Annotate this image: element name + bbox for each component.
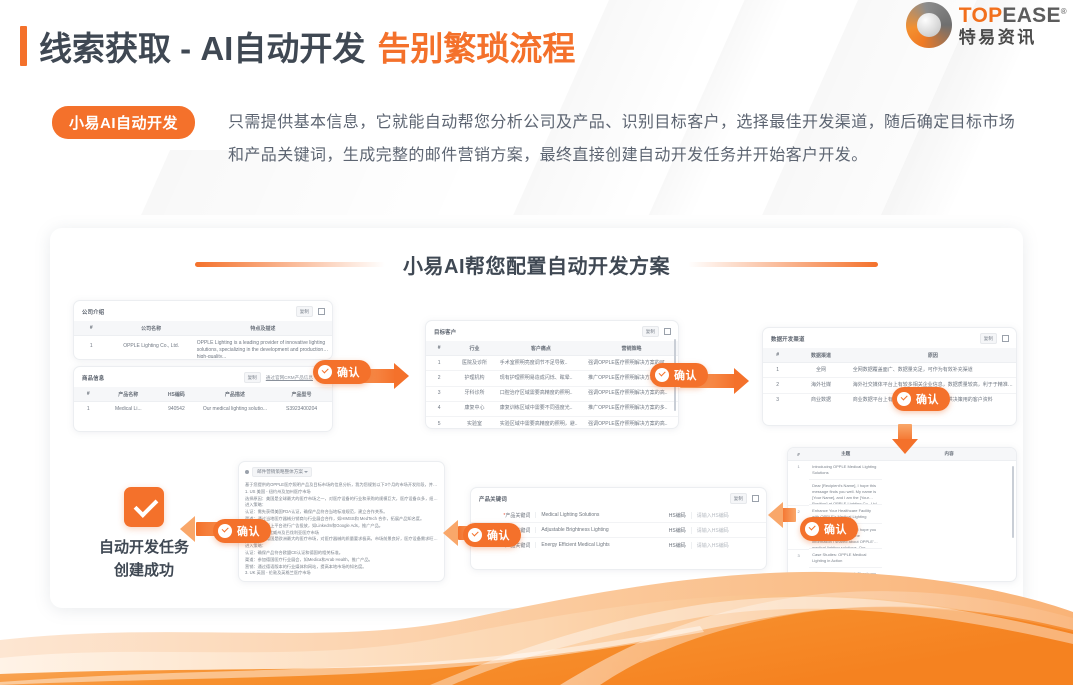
cell-pain-point: 口腔治疗区域需要高精度的照明..: [497, 386, 585, 401]
table-row: 2 护理机构 现有护理照明易造成闪烁、眩晕.. 推广OPPLE医疗照明解决方案的…: [426, 371, 678, 386]
col-product-name: 产品名称: [102, 387, 154, 402]
logo-registered-mark: ®: [1061, 7, 1067, 16]
card-email-campaign: # 主题 内容 1 Introducing OPPLE Medical Ligh…: [787, 447, 1017, 582]
plan-line: 认证：确保产品符合欧盟CE认证和德国的相关标准。: [245, 550, 438, 557]
add-from-crm-link[interactable]: 通过官网CRM产品信息: [266, 375, 313, 381]
confirm-button[interactable]: 确认: [463, 523, 521, 547]
plan-line: 1. US 美国 - 纽约州及加州医疗市场: [245, 489, 438, 496]
card-company-title: 公司介绍: [82, 308, 104, 316]
card-company-header: 公司介绍 复制: [74, 301, 332, 321]
col-industry: 行业: [452, 341, 497, 356]
cell-hs-code: 940542: [154, 402, 199, 417]
title-main-text: 线索获取 - AI自动开发: [39, 22, 365, 70]
col-product-model: 产品型号: [271, 387, 332, 402]
cell-industry: 牙科诊所: [452, 386, 497, 401]
plan-line: 渠道：参加德国医疗行业展会，如Medica和Arab Health，推广产品。: [245, 557, 438, 564]
panel-title-text: 小易AI帮您配置自动开发方案: [403, 250, 670, 279]
feature-description: 只需提供基本信息，它就能自动帮您分析公司及产品、识别目标客户，选择最佳开发渠道，…: [228, 107, 1028, 173]
cell-strategy: 推广OPPLE医疗照明解决方案的多..: [585, 401, 678, 416]
plan-line: 进入策略：: [245, 502, 438, 509]
copy-button[interactable]: 复制: [980, 333, 997, 344]
cell-index: 1: [763, 363, 792, 378]
check-circle-icon: [218, 524, 232, 538]
table-row: 3 牙科诊所 口腔治疗区域需要高精度的照明.. 强调OPPLE医疗照明解决方案的…: [426, 386, 678, 401]
hs-input[interactable]: 请输入HS编码: [691, 542, 766, 549]
hs-label: HS编码: [650, 527, 691, 534]
card-target-title: 目标客户: [434, 328, 456, 336]
cell-reason: 全网数据覆盖面广、数据量充足，可作为有效补充渠道: [850, 363, 1016, 378]
emails-table: # 主题 内容 1 Introducing OPPLE Medical Ligh…: [788, 448, 1016, 582]
cell-pain-point: 康复训练区域中需要不同强度光..: [497, 401, 585, 416]
card-product-header: 商品信息 复制 通过官网CRM产品信息: [74, 367, 332, 387]
confirm-button[interactable]: 确认: [650, 363, 708, 387]
copy-button[interactable]: 复制: [642, 326, 659, 337]
cell-pain-point: 手术室照明亮度调节不足导致..: [497, 356, 585, 371]
success-check-icon: [124, 487, 164, 527]
keyword-input[interactable]: Adjustable Brightness Lighting: [535, 527, 650, 533]
plan-line: 进入策略：: [245, 543, 438, 550]
title-accent-text: 告别繁琐流程: [377, 22, 575, 70]
card-channel-header: 数据开发渠道 复制: [763, 328, 1016, 348]
cell-industry: 实验室: [452, 417, 497, 430]
cell-channel: 商业数据: [792, 393, 850, 408]
table-row: 3 商业数据 商业数据平台上有较多相关企业信息，可提供决策用的客户资料: [763, 393, 1016, 408]
logo-top-part2: EASE: [1002, 4, 1060, 27]
flow-arrow-left: [768, 502, 796, 528]
copy-button[interactable]: 复制: [730, 493, 747, 504]
cell-industry: 康复中心: [452, 401, 497, 416]
cell-index: 1: [788, 461, 809, 506]
cell-index: 5: [426, 417, 452, 430]
card-product-title: 商品信息: [82, 374, 104, 382]
table-header-row: # 数据渠道 原因: [763, 348, 1016, 363]
cell-index: 3: [426, 386, 452, 401]
company-table: # 公司名称 特点及描述 1 OPPLE Lighting Co., Ltd. …: [74, 321, 332, 358]
expand-icon[interactable]: [1002, 335, 1009, 342]
logo-top-part1: TOP: [959, 4, 1003, 27]
cell-product-model: S3923400204: [271, 402, 332, 417]
card-company-intro: 公司介绍 复制 # 公司名称 特点及描述 1 OPPLE Lighting Co…: [73, 300, 333, 360]
card-target-header: 目标客户 复制: [426, 321, 678, 341]
cell-industry: 护理机构: [452, 371, 497, 386]
confirm-button[interactable]: 确认: [892, 387, 950, 411]
col-product-desc: 产品描述: [199, 387, 271, 402]
col-subject: 主题: [809, 448, 882, 461]
cell-subject: Introducing OPPLE Medical Lighting Solut…: [809, 461, 882, 480]
title-accent-bar: [20, 26, 27, 66]
card-target-tools: 复制: [642, 326, 671, 337]
cell-strategy: 强调OPPLE医疗照明解决方案的高..: [585, 417, 678, 430]
cell-company-name: OPPLE Lighting Co., Ltd.: [109, 336, 194, 358]
col-index: #: [74, 321, 109, 336]
table-row: 2 海外社媒 海外社交媒体平台上有较多相关企业信息，数据质量较高，利于于精准定位…: [763, 378, 1016, 393]
cell-pain-point: 实验区域中需要高精度的照明，避..: [497, 417, 585, 430]
col-index: #: [426, 341, 452, 356]
expand-icon[interactable]: [318, 308, 325, 315]
bottom-wave-decoration: [0, 570, 1073, 685]
table-row: 1 医院及诊所 手术室照明亮度调节不足导致.. 强调OPPLE医疗照明解决方案的…: [426, 356, 678, 371]
confirm-button-label: 确认: [916, 391, 939, 407]
keyword-label: *产品关键词: [471, 512, 535, 519]
confirm-button[interactable]: 确认: [313, 360, 371, 384]
copy-button[interactable]: 复制: [296, 306, 313, 317]
page-title: 线索获取 - AI自动开发 告别繁琐流程: [20, 22, 575, 70]
panel-title-row: 小易AI帮您配置自动开发方案: [50, 250, 1023, 279]
hs-label: HS编码: [650, 542, 691, 549]
plan-line: 选择原因：德国是欧洲最大的医疗市场，对医疗器械的质量要求极高，市场前景良好，医疗…: [245, 536, 438, 543]
hs-label: HS编码: [650, 512, 691, 519]
plan-line: 渠道：通过当地医疗器械分销商与行业展会合作，如HIMSS和 MedTech 合作…: [245, 516, 438, 523]
check-circle-icon: [318, 365, 332, 379]
bullet-icon: [245, 470, 249, 474]
card-keywords-header: 产品关键词 复制: [471, 488, 766, 508]
cell-company-desc: OPPLE Lighting is a leading provider of …: [194, 336, 332, 358]
card-channel-tools: 复制: [980, 333, 1009, 344]
check-circle-icon: [468, 528, 482, 542]
keyword-row: *产品关键词 Medical Lighting Solutions HS编码 请…: [471, 508, 766, 523]
check-circle-icon: [805, 522, 819, 536]
cell-index: 2: [763, 378, 792, 393]
cell-body: Dear [Recipient's Name], I hope this mes…: [809, 480, 882, 505]
col-index: #: [763, 348, 792, 363]
hs-input[interactable]: 请输入HS编码: [691, 527, 766, 534]
col-reason: 原因: [850, 348, 1016, 363]
topease-ring-icon: [906, 2, 952, 48]
cell-industry: 医院及诊所: [452, 356, 497, 371]
cell-channel: 全网: [792, 363, 850, 378]
copy-button[interactable]: 复制: [244, 372, 261, 383]
card-company-tools: 复制: [296, 306, 325, 317]
col-channel: 数据渠道: [792, 348, 850, 363]
col-index: #: [788, 448, 809, 461]
table-header-row: # 行业 客户痛点 营销策略: [426, 341, 678, 356]
product-table: # 产品名称 HS编码 产品描述 产品型号 1 Medical Li... 94…: [74, 387, 332, 416]
plan-selector[interactable]: 邮件营销策略整体方案: [252, 467, 312, 477]
check-circle-icon: [655, 368, 669, 382]
card-keywords-tools: 复制: [730, 493, 759, 504]
table-header-row: # 产品名称 HS编码 产品描述 产品型号: [74, 387, 332, 402]
cell-index: 1: [426, 356, 452, 371]
panel-title-line-left: [195, 262, 385, 267]
cell-pain-point: 现有护理照明易造成闪烁、眩晕..: [497, 371, 585, 386]
cell-index: 4: [426, 401, 452, 416]
table-row: 1 OPPLE Lighting Co., Ltd. OPPLE Lightin…: [74, 336, 332, 358]
card-data-channels: 数据开发渠道 复制 # 数据渠道 原因 1 全网 全网数据覆盖面广、数据量充足，…: [762, 327, 1017, 426]
confirm-button-label: 确认: [824, 521, 847, 537]
table-row: 4 康复中心 康复训练区域中需要不同强度光.. 推广OPPLE医疗照明解决方案的…: [426, 401, 678, 416]
keyword-input[interactable]: Energy Efficient Medical Lights: [535, 542, 650, 548]
table-row: 1 Introducing OPPLE Medical Lighting Sol…: [788, 461, 1016, 506]
card-target-customers: 目标客户 复制 # 行业 客户痛点 营销策略 1 医院及诊所 手术室照明亮度调节…: [425, 320, 679, 429]
flow-arrow-down: [892, 424, 918, 454]
plan-line: 2. DE 德国 - 北威州及巴伐利亚医疗市场: [245, 530, 438, 537]
table-row: 1 Medical Li... 940542 Our medical light…: [74, 402, 332, 417]
table-header-row: # 公司名称 特点及描述: [74, 321, 332, 336]
table-row: 5 实验室 实验区域中需要高精度的照明，避.. 强调OPPLE医疗照明解决方案的…: [426, 417, 678, 430]
cell-index: 1: [74, 336, 109, 358]
card-marketing-plan: 邮件营销策略整体方案 基于您提供的OPPLE医疗照明产品及目标市场的信息分析，我…: [238, 461, 445, 582]
target-table: # 行业 客户痛点 营销策略 1 医院及诊所 手术室照明亮度调节不足导致.. 强…: [426, 341, 678, 429]
card-product-info: 商品信息 复制 通过官网CRM产品信息 # 产品名称 HS编码 产品描述 产品型…: [73, 366, 333, 432]
cell-strategy: 强调OPPLE医疗照明解决方案的高..: [585, 386, 678, 401]
confirm-button-label: 确认: [487, 527, 510, 543]
channel-table: # 数据渠道 原因 1 全网 全网数据覆盖面广、数据量充足，可作为有效补充渠道 …: [763, 348, 1016, 408]
col-strategy: 营销策略: [585, 341, 678, 356]
keyword-label-text: 产品关键词: [505, 513, 530, 519]
plan-line: 选择原因：美国是全球最大的医疗市场之一，对医疗设备的行业和采购的规模巨大，医疗设…: [245, 496, 438, 503]
plan-line: 认证：需先获得美国FDA认证，确保产品符合当地标准规范，建立合作关系。: [245, 509, 438, 516]
confirm-button-label: 确认: [337, 364, 360, 380]
vertical-scrollbar[interactable]: [1012, 466, 1014, 538]
cell-subject: Case Studies: OPPLE Medical Lighting in …: [809, 549, 882, 568]
check-circle-icon: [897, 392, 911, 406]
expand-icon[interactable]: [664, 328, 671, 335]
feature-badge: 小易AI自动开发: [52, 106, 195, 139]
card-channel-title: 数据开发渠道: [771, 335, 805, 343]
plan-line: 营销：通过线上平台进行广告投放，如LinkedIn和Google Ads，推广产…: [245, 523, 438, 530]
cell-channel: 海外社媒: [792, 378, 850, 393]
logo-subtitle: 特易资讯: [959, 29, 1067, 46]
cell-index: 3: [763, 393, 792, 408]
hs-input[interactable]: 请输入HS编码: [691, 512, 766, 519]
confirm-button[interactable]: 确认: [213, 519, 271, 543]
expand-icon[interactable]: [752, 495, 759, 502]
cell-index: 2: [426, 371, 452, 386]
plan-line: 基于您提供的OPPLE医疗照明产品及目标市场的信息分析，我为您规划以下3个月的市…: [245, 482, 438, 489]
col-hs-code: HS编码: [154, 387, 199, 402]
col-company-desc: 特点及描述: [194, 321, 332, 336]
card-keywords-title: 产品关键词: [479, 495, 507, 503]
col-pain-point: 客户痛点: [497, 341, 585, 356]
confirm-button-label: 确认: [674, 367, 697, 383]
keyword-input[interactable]: Medical Lighting Solutions: [535, 512, 650, 518]
table-row: 1 全网 全网数据覆盖面广、数据量充足，可作为有效补充渠道: [763, 363, 1016, 378]
confirm-button-label: 确认: [237, 523, 260, 539]
col-index: #: [74, 387, 102, 402]
panel-title-line-right: [688, 262, 878, 267]
cell-product-name: Medical Li...: [102, 402, 154, 417]
col-company-name: 公司名称: [109, 321, 194, 336]
cell-product-desc: Our medical lighting solutio...: [199, 402, 271, 417]
confirm-button[interactable]: 确认: [800, 517, 858, 541]
brand-logo: TOPEASE® 特易资讯: [906, 2, 1067, 48]
plan-header: 邮件营销策略整体方案: [239, 462, 444, 481]
cell-index: 1: [74, 402, 102, 417]
